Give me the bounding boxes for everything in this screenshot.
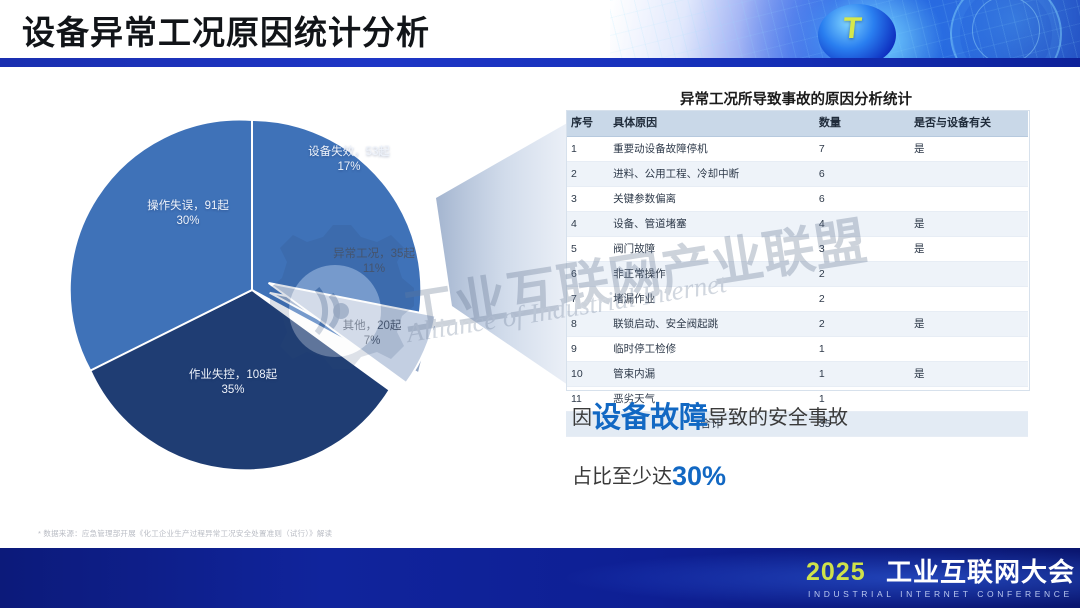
cell-cause: 堵漏作业 [608,287,814,312]
cell-no: 1 [566,137,608,162]
conclusion-line-2: 占比至少达30% [572,463,1002,490]
cell-qty: 4 [814,212,909,237]
table-header-row: 序号 具体原因 数量 是否与设备有关 [566,110,1028,137]
pie-chart: 操作失误，91起 30% 设备失效，53起 17% 异常工况，35起 11% 其… [52,92,482,492]
cell-cause: 管束内漏 [608,362,814,387]
col-header-cause: 具体原因 [608,110,814,137]
cell-cause: 关键参数偏离 [608,187,814,212]
cell-related [909,337,1028,362]
cell-cause: 联锁启动、安全阀起跳 [608,312,814,337]
cell-qty: 6 [814,162,909,187]
col-header-no: 序号 [566,110,608,137]
footer-year: 2025 [806,560,866,585]
table-row: 3关键参数偏离6 [566,187,1028,212]
pie-label-zuoye-shikong-pct: 35% [221,384,244,396]
cell-cause: 设备、管道堵塞 [608,212,814,237]
table-head: 序号 具体原因 数量 是否与设备有关 [566,110,1028,137]
cell-no: 7 [566,287,608,312]
cell-no: 5 [566,237,608,262]
cell-no: 2 [566,162,608,187]
source-footnote: * 数据来源：应急管理部开展《化工企业生产过程异常工况安全处置准则（试行）》解读 [38,528,332,539]
slide-header: T 设备异常工况原因统计分析 [0,0,1080,66]
cell-qty: 2 [814,287,909,312]
pie-label-qita-text: 其他，20起 [343,320,402,332]
cell-qty: 1 [814,337,909,362]
conclusion-line1-emphasis: 设备故障 [592,402,708,434]
cell-cause: 临时停工检修 [608,337,814,362]
pie-label-caozuo-shiwu-pct: 30% [176,215,199,227]
conclusion-line2-prefix: 占比至少达 [572,466,672,488]
table-row: 9临时停工检修1 [566,337,1028,362]
pie-label-zuoye-shikong: 作业失控，108起 35% [138,368,328,398]
cell-related: 是 [909,137,1028,162]
cell-related: 是 [909,212,1028,237]
header-decorative-tech-banner: T [610,0,1080,66]
table-row: 1重要动设备故障停机7是 [566,137,1028,162]
table-row: 6非正常操作2 [566,262,1028,287]
cell-no: 9 [566,337,608,362]
cell-cause: 重要动设备故障停机 [608,137,814,162]
table-row: 10管束内漏1是 [566,362,1028,387]
cell-qty: 6 [814,187,909,212]
cell-no: 4 [566,212,608,237]
col-header-related: 是否与设备有关 [909,110,1028,137]
footer-conference-name-en: INDUSTRIAL INTERNET CONFERENCE [808,589,1073,599]
pie-label-zuoye-shikong-text: 作业失控，108起 [189,369,277,381]
cell-related: 是 [909,312,1028,337]
pie-label-shebei-shixiao: 设备失效，53起 17% [264,145,434,175]
conclusion-line2-percent: 30% [672,461,726,491]
cell-related [909,162,1028,187]
cell-qty: 3 [814,237,909,262]
table-row: 5阀门故障3是 [566,237,1028,262]
cell-related: 是 [909,237,1028,262]
cell-cause: 进料、公用工程、冷却中断 [608,162,814,187]
footer-conference-name-cn: 工业互联网大会 [886,559,1075,585]
cell-qty: 1 [814,362,909,387]
cell-cause: 非正常操作 [608,262,814,287]
cell-qty: 2 [814,262,909,287]
cause-analysis-table: 序号 具体原因 数量 是否与设备有关 1重要动设备故障停机7是 2进料、公用工程… [566,110,1028,437]
page-title: 设备异常工况原因统计分析 [22,6,430,54]
conclusion-line-1: 因设备故障导致的安全事故 [572,404,1002,433]
conclusion-block: 因设备故障导致的安全事故 占比至少达30% [572,404,1002,490]
cell-related [909,287,1028,312]
cell-related [909,187,1028,212]
table-row: 7堵漏作业2 [566,287,1028,312]
pie-label-qita-pct: 7% [364,335,381,347]
table-title: 异常工况所导致事故的原因分析统计 [566,88,1026,109]
table-row: 2进料、公用工程、冷却中断6 [566,162,1028,187]
slide-footer: 2025 工业互联网大会 INDUSTRIAL INTERNET CONFERE… [0,548,1080,608]
table-row: 8联锁启动、安全阀起跳2是 [566,312,1028,337]
cell-no: 3 [566,187,608,212]
pie-label-shebei-shixiao-pct: 17% [337,161,360,173]
cell-no: 10 [566,362,608,387]
cell-qty: 7 [814,137,909,162]
pie-label-yichang-gongkuang-text: 异常工况，35起 [333,248,415,260]
cell-related: 是 [909,362,1028,387]
cell-no: 8 [566,312,608,337]
slide-root: T 设备异常工况原因统计分析 操作失误，91起 30% 设备失效，53起 17% [0,0,1080,608]
col-header-qty: 数量 [814,110,909,137]
pie-label-caozuo-shiwu: 操作失误，91起 30% [98,199,278,229]
cell-no: 6 [566,262,608,287]
cell-qty: 2 [814,312,909,337]
pie-label-qita: 其他，20起 7% [292,319,452,349]
table-row: 4设备、管道堵塞4是 [566,212,1028,237]
table-body: 1重要动设备故障停机7是 2进料、公用工程、冷却中断6 3关键参数偏离6 4设备… [566,137,1028,437]
cell-cause: 阀门故障 [608,237,814,262]
pie-label-yichang-gongkuang-pct: 11% [363,263,385,275]
conclusion-line1-suffix: 导致的安全事故 [708,407,848,429]
cell-related [909,262,1028,287]
header-accent-bar [0,58,1080,67]
conclusion-line1-prefix: 因 [572,407,592,429]
pie-label-shebei-shixiao-text: 设备失效，53起 [308,146,390,158]
header-t-logo-icon: T [841,14,862,44]
pie-label-caozuo-shiwu-text: 操作失误，91起 [147,200,229,212]
